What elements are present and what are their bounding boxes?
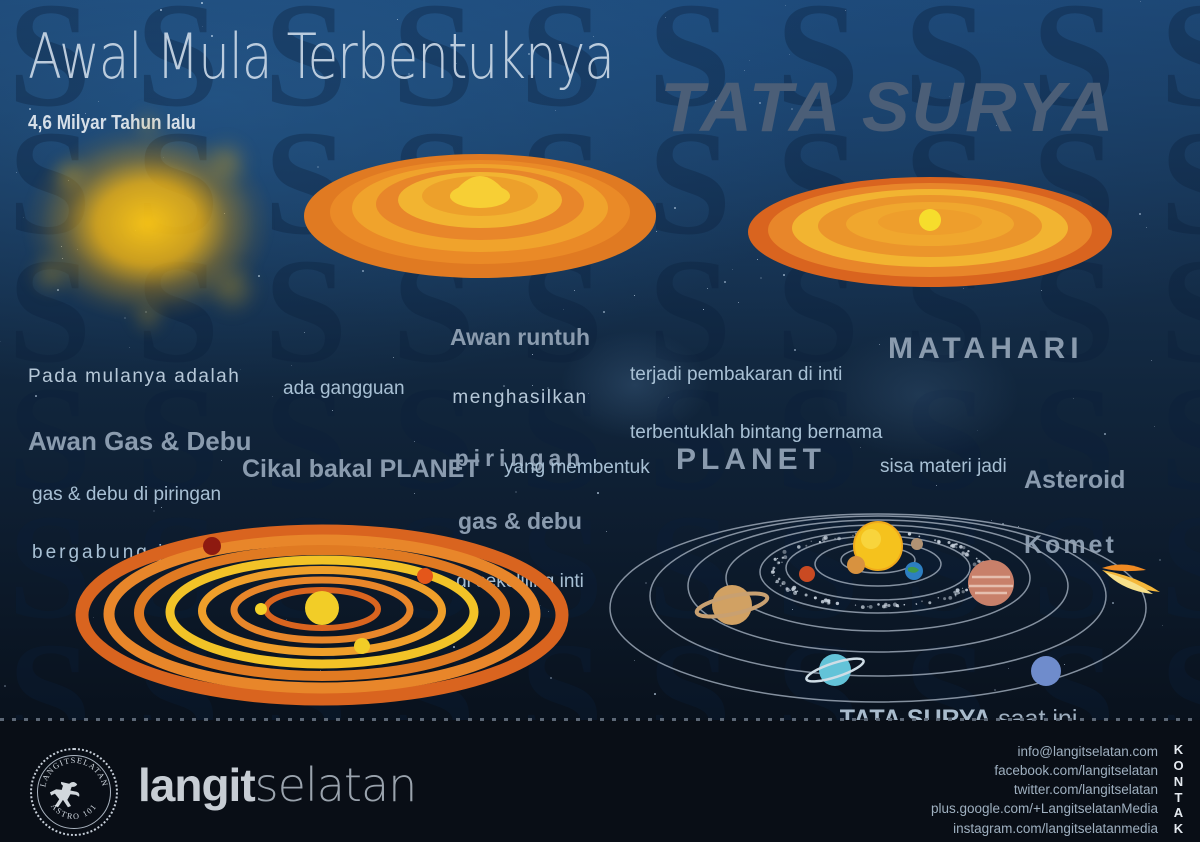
footer-divider	[0, 718, 1200, 721]
protoplanetary-disk-illustration-2	[745, 168, 1115, 293]
kontak-vertical-label: KONTAK	[1170, 742, 1188, 837]
label-forming: yang membentuk	[504, 457, 650, 479]
forming-planets-disk-illustration	[75, 515, 570, 715]
page-title-big: TATA SURYA	[660, 72, 1115, 142]
contact-email[interactable]: info@langitselatan.com	[931, 742, 1158, 761]
protoplanetary-disk-illustration-1	[300, 138, 660, 288]
page-title: Awal Mula Terbentuknya	[28, 26, 614, 88]
contact-googleplus[interactable]: plus.google.com/+LangitselatanMedia	[931, 799, 1158, 818]
label-planet: PLANET	[676, 443, 826, 477]
langitselatan-badge-logo: LANGITSELATAN ASTRO 101	[30, 748, 118, 836]
gas-cloud-illustration	[18, 120, 278, 335]
label-sun: MATAHARI	[888, 332, 1084, 366]
contact-twitter[interactable]: twitter.com/langitselatan	[931, 780, 1158, 799]
infographic-canvas: SSSSSSSSSSSSSSSSSSSSSSSSSSSSSSSSSSSSSSSS…	[0, 0, 1200, 842]
contact-facebook[interactable]: facebook.com/langitselatan	[931, 761, 1158, 780]
langitselatan-wordmark: langitselatan	[138, 762, 416, 808]
solar-system-illustration	[650, 498, 1195, 703]
contact-list: info@langitselatan.com facebook.com/lang…	[931, 742, 1158, 838]
comet-icon	[1102, 564, 1160, 594]
label-disturbance: ada gangguan	[283, 342, 405, 436]
label-leftover: sisa materi jadi	[880, 456, 1007, 478]
label-protoplanet: Cikal bakal PLANET	[242, 455, 480, 484]
contact-instagram[interactable]: instagram.com/langitselatanmedia	[931, 819, 1158, 838]
